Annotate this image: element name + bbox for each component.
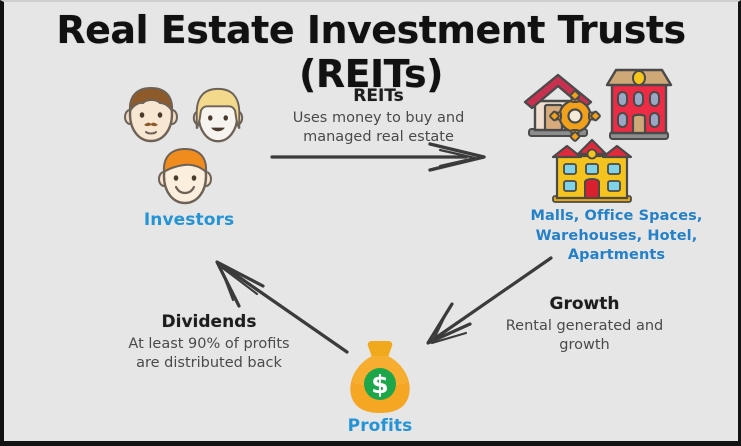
infographic-canvas: Real Estate Investment Trusts (REITs) <box>0 0 741 446</box>
dollar-symbol: $ <box>371 370 388 399</box>
investor-face-boy-icon <box>154 146 216 208</box>
reits-heading: REITs <box>266 86 491 106</box>
reits-flow-text: REITs Uses money to buy and managed real… <box>266 86 491 146</box>
investors-label: Investors <box>104 210 274 230</box>
profits-label: Profits <box>310 416 450 436</box>
properties-label-line1: Malls, Office Spaces, <box>489 207 741 227</box>
money-bag-icon: $ <box>345 340 415 416</box>
growth-flow-text: Growth Rental generated and growth <box>482 294 687 354</box>
arrow-right-icon <box>270 140 490 176</box>
growth-description-line2: growth <box>482 336 687 355</box>
growth-description-line1: Rental generated and <box>482 317 687 336</box>
dividends-description-line2: are distributed back <box>94 354 324 373</box>
dividends-flow-text: Dividends At least 90% of profits are di… <box>94 312 324 372</box>
dividends-heading: Dividends <box>94 312 324 332</box>
dividends-description-line1: At least 90% of profits <box>94 335 324 354</box>
investor-face-man-icon <box>120 84 182 146</box>
yellow-office-building-icon <box>547 138 637 206</box>
properties-node <box>509 62 684 207</box>
red-apartment-building-icon <box>604 64 674 144</box>
investor-face-woman-icon <box>188 86 248 146</box>
house-with-gear-icon <box>517 67 599 143</box>
reits-description-line1: Uses money to buy and <box>266 109 491 128</box>
growth-heading: Growth <box>482 294 687 314</box>
